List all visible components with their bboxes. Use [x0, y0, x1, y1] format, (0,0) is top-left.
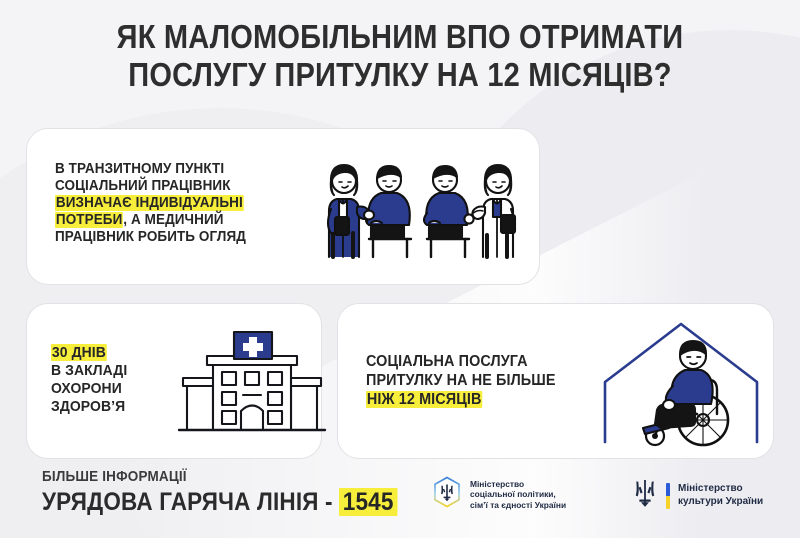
- hospital-building-illustration: [177, 326, 327, 441]
- logo-line: Міністерство: [678, 483, 763, 496]
- page-title: ЯК МАЛОМОБІЛЬНИМ ВПО ОТРИМАТИ ПОСЛУГУ ПР…: [0, 18, 800, 94]
- footer-contact-info: БІЛЬШЕ ІНФОРМАЦІЇ УРЯДОВА ГАРЯЧА ЛІНІЯ -…: [42, 468, 397, 517]
- card-line: ПОТРЕБИ, А МЕДИЧНИЙ: [55, 212, 278, 229]
- logo-line: соціальної політики,: [470, 489, 566, 499]
- card-line-highlight: ПОТРЕБИ: [55, 212, 123, 228]
- house-with-wheelchair-user-illustration: [597, 310, 765, 458]
- ukrainian-flag-bar: [666, 483, 670, 509]
- card-shelter-service-text: СОЦІАЛЬНА ПОСЛУГА ПРИТУЛКУ НА НЕ БІЛЬШЕ …: [366, 352, 580, 409]
- hotline-label: УРЯДОВА ГАРЯЧА ЛІНІЯ -: [42, 488, 333, 516]
- page-title-line-1: ЯК МАЛОМОБІЛЬНИМ ВПО ОТРИМАТИ: [48, 18, 752, 56]
- social-worker-and-doctor-illustration: [299, 151, 529, 269]
- card-line: ОХОРОНИ: [51, 380, 181, 398]
- logo-line: Міністерство: [470, 479, 566, 489]
- ukrainian-trident-emblem: [632, 478, 658, 513]
- page-title-line-2: ПОСЛУГУ ПРИТУЛКУ НА 12 МІСЯЦІВ?: [48, 56, 752, 94]
- card-line-highlight: НІЖ 12 МІСЯЦІВ: [366, 391, 482, 408]
- hotline-number[interactable]: 1545: [339, 488, 397, 516]
- infographic-poster: ЯК МАЛОМОБІЛЬНИМ ВПО ОТРИМАТИ ПОСЛУГУ ПР…: [0, 0, 800, 538]
- hotline-line: УРЯДОВА ГАРЯЧА ЛІНІЯ - 1545: [42, 487, 397, 517]
- card-line-highlight: ВИЗНАЧАЄ ІНДИВІДУАЛЬНІ: [55, 195, 244, 211]
- ministry-of-social-policy-name: Міністерство соціальної політики, сім’ї …: [470, 479, 566, 510]
- card-line: ПРИТУЛКУ НА НЕ БІЛЬШЕ: [366, 371, 580, 390]
- card-line-suffix: , А МЕДИЧНИЙ: [123, 212, 223, 228]
- card-line: ВИЗНАЧАЄ ІНДИВІДУАЛЬНІ: [55, 195, 278, 212]
- card-line: НІЖ 12 МІСЯЦІВ: [366, 390, 580, 409]
- ukrainian-trident-hexagon-emblem: [432, 476, 462, 513]
- card-line: 30 ДНІВ: [51, 344, 181, 362]
- card-line: В ТРАНЗИТНОМУ ПУНКТІ: [55, 161, 278, 178]
- more-info-label: БІЛЬШЕ ІНФОРМАЦІЇ: [42, 468, 397, 486]
- ministry-of-culture-name: Міністерство культури України: [678, 483, 763, 508]
- card-transit-point: В ТРАНЗИТНОМУ ПУНКТІ СОЦІАЛЬНИЙ ПРАЦІВНИ…: [26, 128, 540, 285]
- ministry-of-culture-logo: Міністерство культури України: [632, 478, 763, 513]
- card-line: СОЦІАЛЬНИЙ ПРАЦІВНИК: [55, 178, 278, 195]
- card-line: ЗДОРОВ’Я: [51, 398, 181, 416]
- card-line: СОЦІАЛЬНА ПОСЛУГА: [366, 352, 580, 371]
- card-line: В ЗАКЛАДІ: [51, 362, 181, 380]
- card-health-facility-text: 30 ДНІВ В ЗАКЛАДІ ОХОРОНИ ЗДОРОВ’Я: [51, 344, 181, 416]
- card-health-facility: 30 ДНІВ В ЗАКЛАДІ ОХОРОНИ ЗДОРОВ’Я: [26, 303, 322, 459]
- ministry-of-social-policy-logo: Міністерство соціальної політики, сім’ї …: [432, 476, 566, 513]
- logo-line: сім’ї та єдності України: [470, 500, 566, 510]
- card-line: ПРАЦІВНИК РОБИТЬ ОГЛЯД: [55, 229, 278, 246]
- logo-line: культури України: [678, 496, 763, 509]
- card-line-highlight: 30 ДНІВ: [51, 344, 107, 361]
- card-transit-point-text: В ТРАНЗИТНОМУ ПУНКТІ СОЦІАЛЬНИЙ ПРАЦІВНИ…: [55, 161, 278, 246]
- card-shelter-service: СОЦІАЛЬНА ПОСЛУГА ПРИТУЛКУ НА НЕ БІЛЬШЕ …: [337, 303, 774, 459]
- footer: БІЛЬШЕ ІНФОРМАЦІЇ УРЯДОВА ГАРЯЧА ЛІНІЯ -…: [0, 462, 800, 538]
